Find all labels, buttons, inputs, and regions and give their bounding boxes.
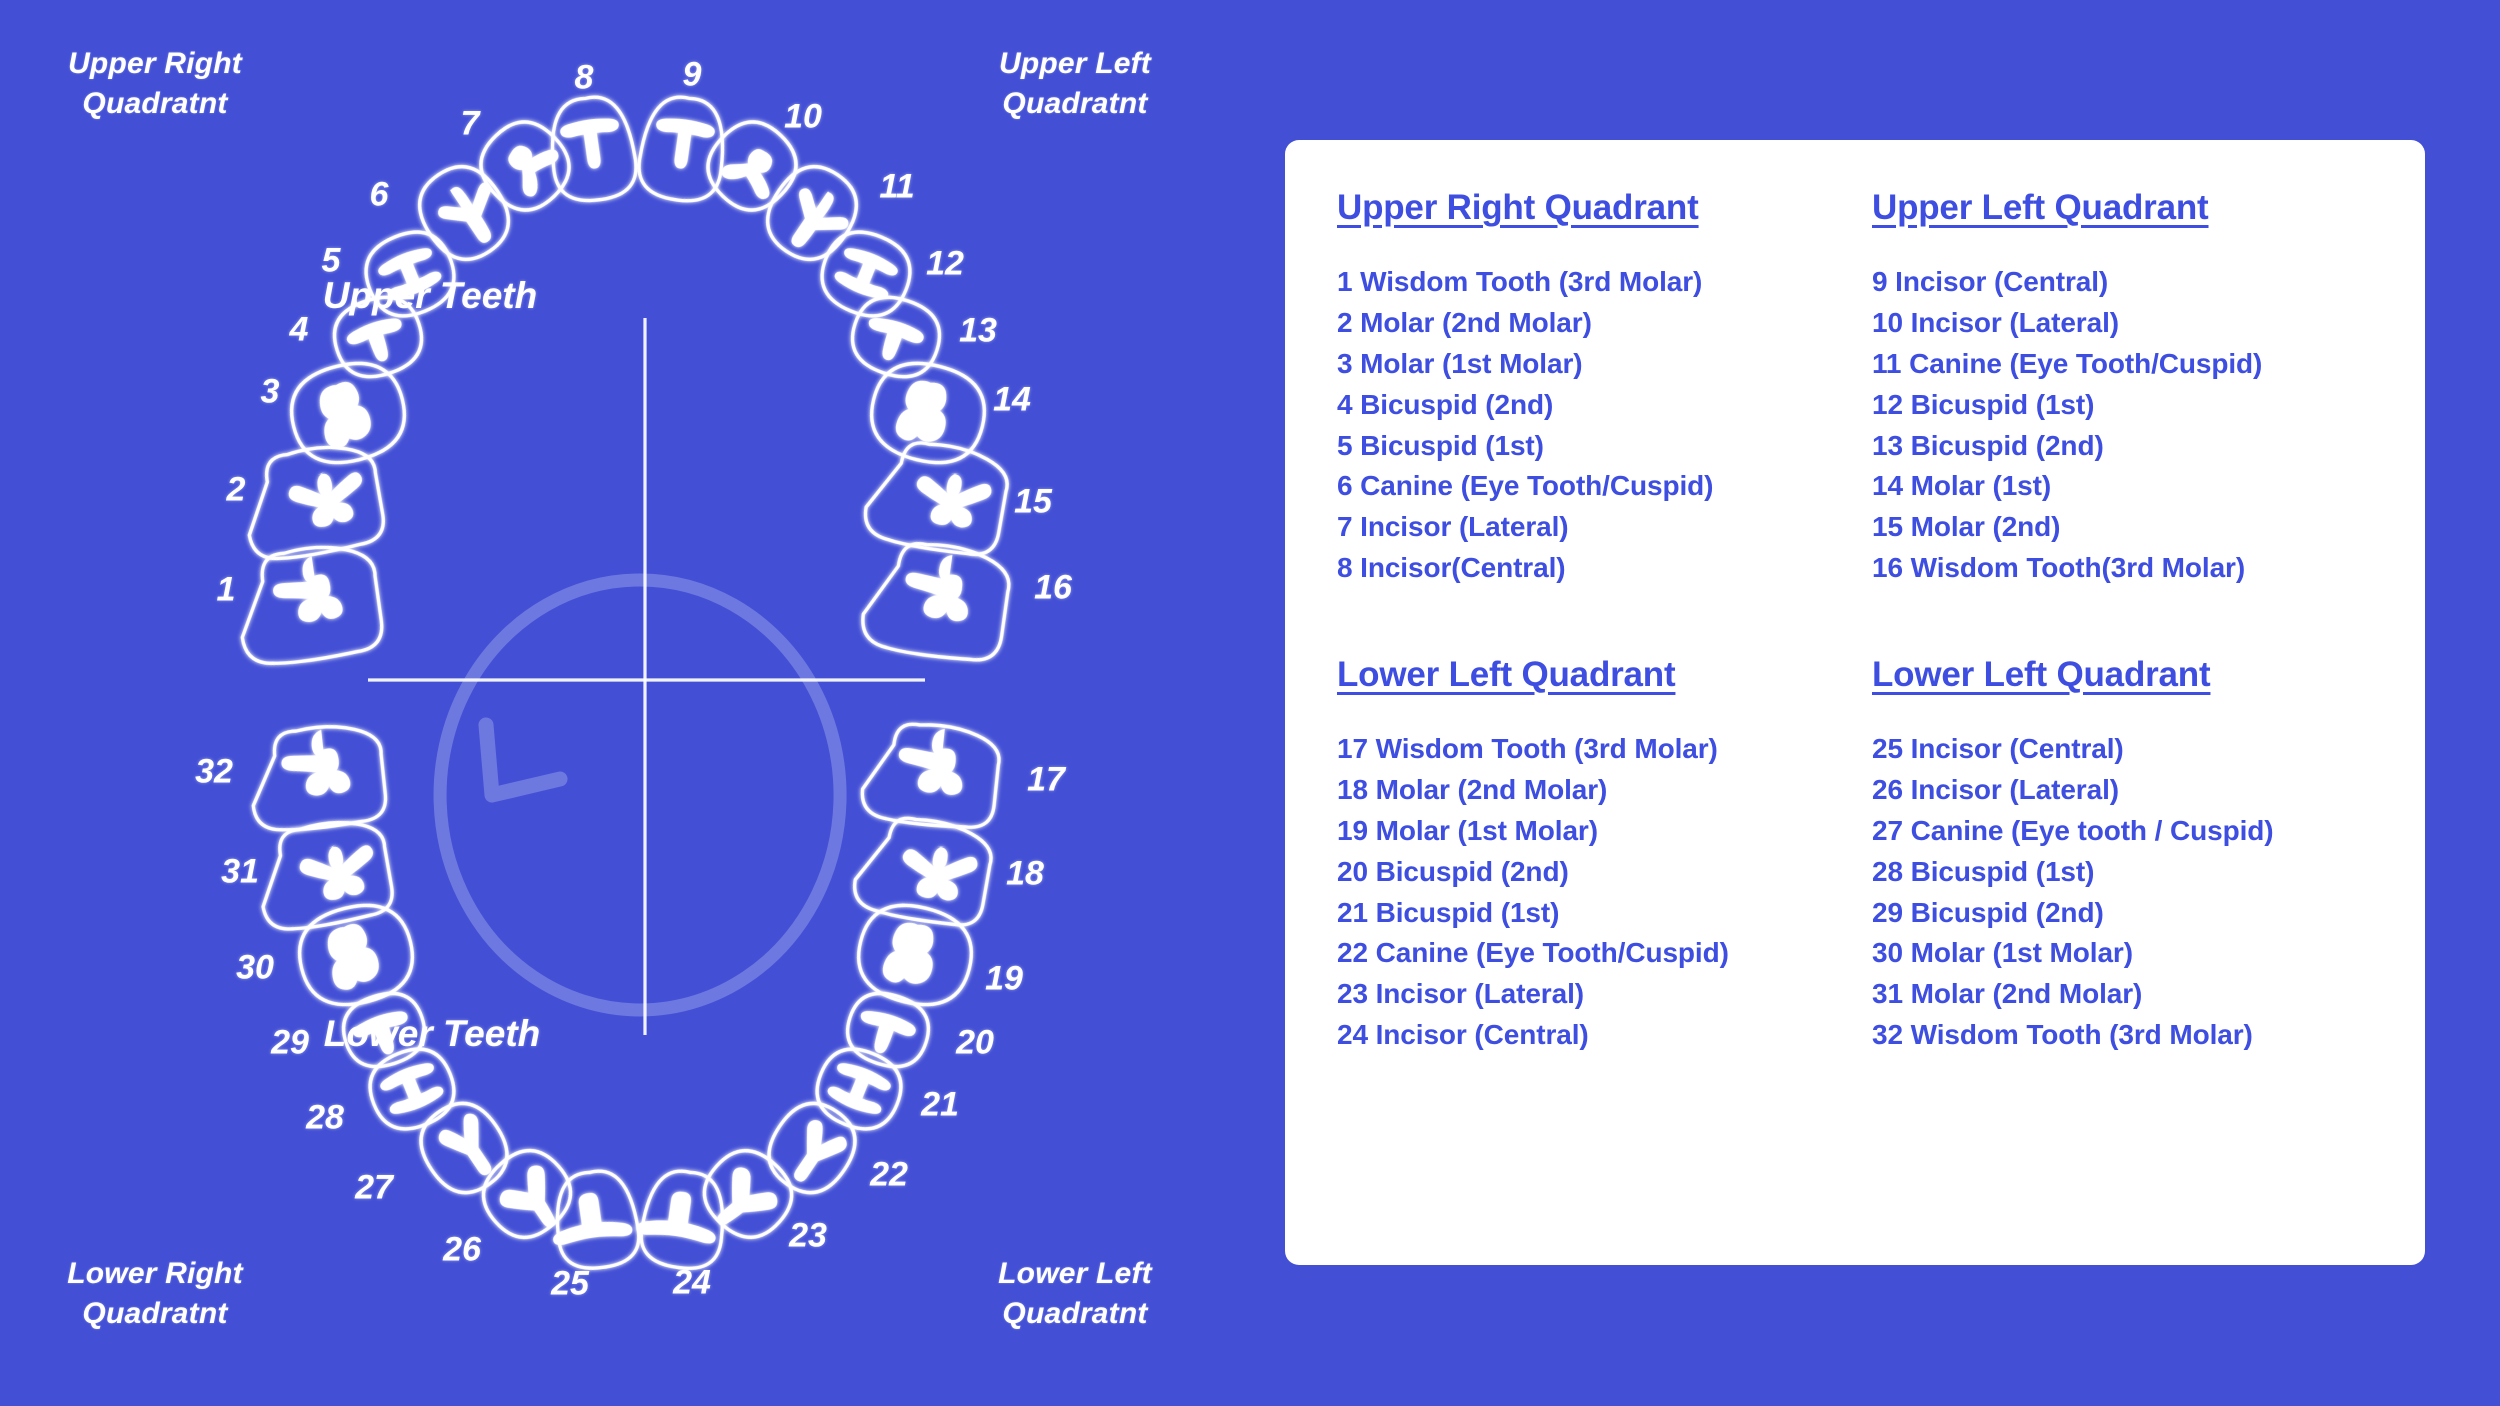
legend-item: 2 Molar (2nd Molar) <box>1337 303 1838 344</box>
tooth-number-8[interactable]: 8 <box>575 59 594 98</box>
legend-item: 17 Wisdom Tooth (3rd Molar) <box>1337 729 1838 770</box>
tooth-surface-glyph <box>297 838 380 904</box>
tooth-surface-glyph <box>832 243 901 303</box>
legend-item: 19 Molar (1st Molar) <box>1337 811 1838 852</box>
crosshair <box>368 318 925 1035</box>
tooth-number-31[interactable]: 31 <box>221 853 259 892</box>
legend-column-3: Lower Left Quadrant25 Incisor (Central)2… <box>1872 655 2373 1056</box>
legend-item: 13 Bicuspid (2nd) <box>1872 426 2373 467</box>
tooth-17[interactable] <box>860 718 1002 831</box>
rotation-arrow-icon <box>440 580 840 1010</box>
tooth-12[interactable] <box>811 221 921 327</box>
legend-item: 23 Incisor (Lateral) <box>1337 974 1838 1015</box>
tooth-number-28[interactable]: 28 <box>306 1099 344 1138</box>
tooth-surface-glyph <box>910 466 993 532</box>
tooth-15[interactable] <box>861 434 1012 560</box>
legend-item: 6 Canine (Eye Tooth/Cuspid) <box>1337 466 1838 507</box>
tooth-number-7[interactable]: 7 <box>461 105 480 144</box>
tooth-number-23[interactable]: 23 <box>789 1217 827 1256</box>
tooth-surface-glyph <box>901 549 976 623</box>
tooth-number-15[interactable]: 15 <box>1014 483 1052 522</box>
tooth-number-16[interactable]: 16 <box>1034 569 1072 608</box>
dental-arch-diagram: Upper Right Quadratnt Upper Left Quadrat… <box>0 0 1285 1406</box>
tooth-surface-glyph <box>896 839 979 905</box>
tooth-16[interactable] <box>859 536 1013 666</box>
legend-item: 8 Incisor(Central) <box>1337 548 1838 589</box>
legend-item: 16 Wisdom Tooth(3rd Molar) <box>1872 548 2373 589</box>
legend-item: 11 Canine (Eye Tooth/Cuspid) <box>1872 344 2373 385</box>
quadrant-label-lower-right: Lower Right Quadratnt <box>40 1254 270 1333</box>
tooth-number-25[interactable]: 25 <box>551 1265 589 1304</box>
legend-item: 31 Molar (2nd Molar) <box>1872 974 2373 1015</box>
tooth-number-5[interactable]: 5 <box>322 242 341 281</box>
upper-teeth-label: Upper Teeth <box>220 275 640 317</box>
tooth-number-3[interactable]: 3 <box>261 373 280 412</box>
tooth-surface-glyph <box>313 378 375 451</box>
tooth-number-17[interactable]: 17 <box>1027 761 1065 800</box>
tooth-surface-glyph <box>651 116 716 173</box>
tooth-number-9[interactable]: 9 <box>683 56 702 95</box>
tooth-number-26[interactable]: 26 <box>443 1231 481 1270</box>
arch-svg <box>0 0 1285 1406</box>
tooth-surface-glyph <box>344 314 411 370</box>
legend-column-title: Lower Left Quadrant <box>1872 655 2373 695</box>
tooth-number-30[interactable]: 30 <box>236 949 274 988</box>
legend-column-title: Lower Left Quadrant <box>1337 655 1838 695</box>
legend-item: 9 Incisor (Central) <box>1872 262 2373 303</box>
legend-item: 12 Bicuspid (1st) <box>1872 385 2373 426</box>
tooth-number-2[interactable]: 2 <box>227 471 246 510</box>
legend-column-0: Upper Right Quadrant1 Wisdom Tooth (3rd … <box>1337 188 1838 589</box>
tooth-13[interactable] <box>843 288 948 387</box>
tooth-32[interactable] <box>246 721 388 834</box>
legend-item: 7 Incisor (Lateral) <box>1337 507 1838 548</box>
legend-item: 29 Bicuspid (2nd) <box>1872 893 2373 934</box>
legend-item: 18 Molar (2nd Molar) <box>1337 770 1838 811</box>
tooth-number-6[interactable]: 6 <box>370 176 389 215</box>
tooth-number-22[interactable]: 22 <box>870 1156 908 1195</box>
legend-item: 5 Bicuspid (1st) <box>1337 426 1838 467</box>
tooth-number-20[interactable]: 20 <box>956 1024 994 1063</box>
tooth-number-10[interactable]: 10 <box>784 98 822 137</box>
tooth-surface-glyph <box>377 1058 446 1118</box>
legend-column-2: Lower Left Quadrant17 Wisdom Tooth (3rd … <box>1337 655 1838 1056</box>
tooth-surface-glyph <box>269 553 344 627</box>
legend-item: 1 Wisdom Tooth (3rd Molar) <box>1337 262 1838 303</box>
tooth-surface-glyph <box>278 727 351 799</box>
tooth-8[interactable] <box>545 92 641 205</box>
tooth-number-12[interactable]: 12 <box>926 245 964 284</box>
teeth-layer <box>231 92 1013 1273</box>
legend-item: 27 Canine (Eye tooth / Cuspid) <box>1872 811 2373 852</box>
legend-list: 9 Incisor (Central)10 Incisor (Lateral)1… <box>1872 262 2373 589</box>
legend-item: 26 Incisor (Lateral) <box>1872 770 2373 811</box>
tooth-number-32[interactable]: 32 <box>195 753 233 792</box>
legend-column-title: Upper Right Quadrant <box>1337 188 1838 228</box>
legend-item: 20 Bicuspid (2nd) <box>1337 852 1838 893</box>
tooth-number-29[interactable]: 29 <box>271 1024 309 1063</box>
legend-item: 28 Bicuspid (1st) <box>1872 852 2373 893</box>
legend-list: 17 Wisdom Tooth (3rd Molar)18 Molar (2nd… <box>1337 729 1838 1056</box>
tooth-surface-glyph <box>895 724 968 796</box>
legend-item: 4 Bicuspid (2nd) <box>1337 385 1838 426</box>
tooth-surface-glyph <box>321 920 383 993</box>
legend-item: 21 Bicuspid (1st) <box>1337 893 1838 934</box>
tooth-1[interactable] <box>231 540 385 670</box>
quadrant-label-upper-left: Upper Left Quadratnt <box>960 44 1190 123</box>
tooth-number-19[interactable]: 19 <box>985 960 1023 999</box>
legend-column-1: Upper Left Quadrant9 Incisor (Central)10… <box>1872 188 2373 589</box>
tooth-surface-glyph <box>286 465 369 531</box>
legend-item: 32 Wisdom Tooth (3rd Molar) <box>1872 1015 2373 1056</box>
legend-item: 22 Canine (Eye Tooth/Cuspid) <box>1337 933 1838 974</box>
quadrant-label-lower-left: Lower Left Quadratnt <box>960 1254 1190 1333</box>
quadrant-label-upper-right: Upper Right Quadratnt <box>40 44 270 123</box>
tooth-number-4[interactable]: 4 <box>290 311 309 350</box>
tooth-surface-glyph <box>851 1006 918 1062</box>
tooth-surface-glyph <box>880 918 942 991</box>
tooth-surface-glyph <box>859 313 926 369</box>
legend-item: 14 Molar (1st) <box>1872 466 2373 507</box>
legend-item: 15 Molar (2nd) <box>1872 507 2373 548</box>
tooth-number-14[interactable]: 14 <box>993 381 1031 420</box>
tooth-number-24[interactable]: 24 <box>673 1264 711 1303</box>
tooth-30[interactable] <box>290 895 422 1015</box>
tooth-number-13[interactable]: 13 <box>959 312 997 351</box>
tooth-number-11[interactable]: 11 <box>879 168 914 207</box>
legend-item: 30 Molar (1st Molar) <box>1872 933 2373 974</box>
legend-panel: Upper Right Quadrant1 Wisdom Tooth (3rd … <box>1285 140 2425 1265</box>
tooth-number-1[interactable]: 1 <box>217 571 236 610</box>
tooth-surface-glyph <box>893 376 955 449</box>
tooth-number-27[interactable]: 27 <box>355 1169 393 1208</box>
tooth-surface-glyph <box>636 1186 722 1244</box>
legend-list: 25 Incisor (Central)26 Incisor (Lateral)… <box>1872 729 2373 1056</box>
legend-list: 1 Wisdom Tooth (3rd Molar)2 Molar (2nd M… <box>1337 262 1838 589</box>
legend-column-title: Upper Left Quadrant <box>1872 188 2373 228</box>
tooth-number-21[interactable]: 21 <box>921 1086 959 1125</box>
tooth-number-18[interactable]: 18 <box>1006 855 1044 894</box>
legend-item: 25 Incisor (Central) <box>1872 729 2373 770</box>
tooth-27[interactable] <box>407 1090 521 1207</box>
tooth-surface-glyph <box>436 1110 507 1186</box>
legend-item: 3 Molar (1st Molar) <box>1337 344 1838 385</box>
legend-item: 24 Incisor (Central) <box>1337 1015 1838 1056</box>
legend-item: 10 Incisor (Lateral) <box>1872 303 2373 344</box>
